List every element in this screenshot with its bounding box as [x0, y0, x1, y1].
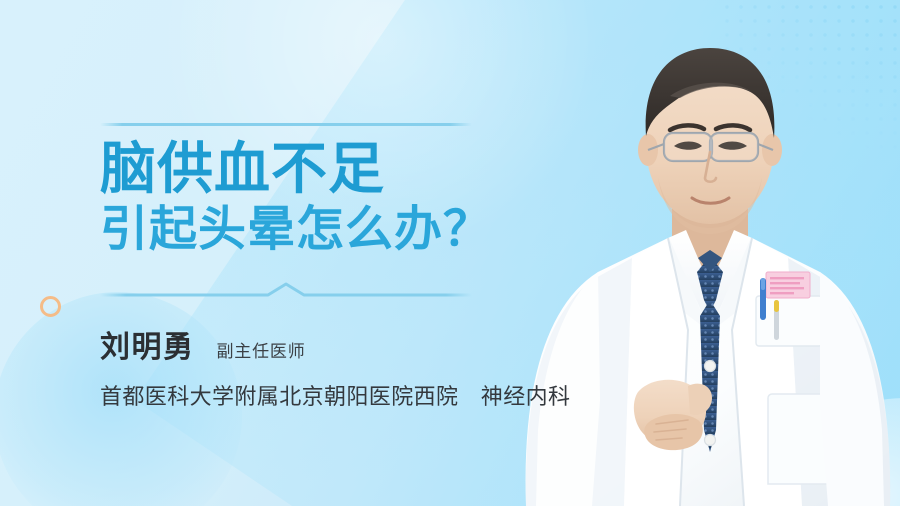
doctor-affiliation: 首都医科大学附属北京朝阳医院西院 神经内科 — [100, 379, 600, 411]
doctor-name-row: 刘明勇 副主任医师 — [100, 322, 600, 366]
title-line-2: 引起头晕怎么办？ — [100, 202, 570, 258]
thumbnail-card: 脑供血不足 引起头晕怎么办？ 刘明勇 副主任医师 — [0, 0, 900, 506]
text-content: 脑供血不足 引起头晕怎么办？ 刘明勇 副主任医师 — [0, 0, 600, 506]
doctor-name: 刘明勇 — [100, 322, 195, 366]
title-line-1: 脑供血不足 — [100, 138, 570, 200]
page-title: 脑供血不足 引起头晕怎么办？ — [100, 138, 570, 258]
doctor-rank: 副主任医师 — [217, 337, 306, 362]
bottom-divider — [100, 281, 472, 301]
doctor-info: 刘明勇 副主任医师 首都医科大学附属北京朝阳医院西院 神经内科 — [100, 322, 600, 411]
top-divider — [100, 123, 472, 126]
